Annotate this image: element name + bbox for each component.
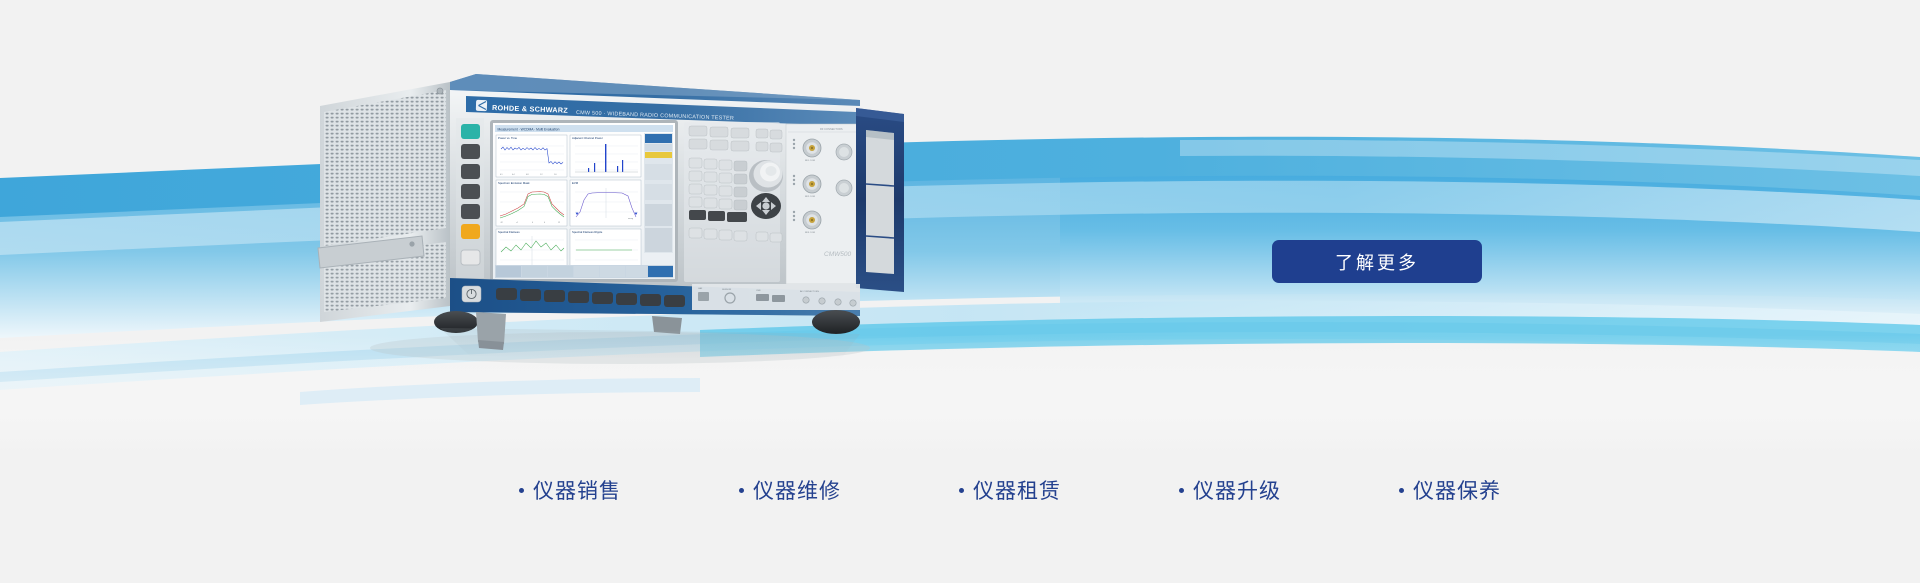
service-link-label: 仪器租赁 <box>973 475 1061 505</box>
io-port-strip[interactable]: LAN SENSOR USB AF CONNECTORS <box>692 284 860 310</box>
rf-port-label-3: RF3 COM <box>805 232 815 234</box>
key-backspace[interactable] <box>689 210 706 220</box>
svg-text:0.8: 0.8 <box>526 174 529 176</box>
key-spare-4[interactable] <box>734 231 747 241</box>
key-reset[interactable] <box>770 130 782 139</box>
service-link-instrument-sales[interactable]: 仪器销售 <box>519 475 621 505</box>
key-signaling[interactable] <box>731 128 749 138</box>
key-print[interactable] <box>461 204 480 219</box>
io-label-af: AF CONNECTORS <box>800 290 819 293</box>
key-spare-6[interactable] <box>770 233 782 242</box>
key-sys[interactable] <box>461 250 480 265</box>
key-spare-5[interactable] <box>756 232 768 241</box>
key-aux-2[interactable] <box>770 143 782 152</box>
svg-text:-12: -12 <box>500 222 503 224</box>
service-link-label: 仪器保养 <box>1413 475 1501 505</box>
bullet-icon <box>959 488 964 493</box>
svg-text:Power vs. Time: Power vs. Time <box>498 136 518 140</box>
svg-text:-4: -4 <box>516 222 518 224</box>
key-unit-4[interactable] <box>734 200 747 210</box>
service-link-instrument-repair[interactable]: 仪器维修 <box>739 475 841 505</box>
rf-port-label-2: RF2 COM <box>805 196 815 198</box>
softkey-1[interactable] <box>496 288 517 300</box>
key-preset[interactable] <box>461 124 480 139</box>
menu-settings[interactable] <box>645 164 672 180</box>
svg-text:4: 4 <box>544 222 545 224</box>
svg-text:Spectrum Emission Mask: Spectrum Emission Mask <box>498 181 530 185</box>
menu-meas[interactable] <box>645 144 672 151</box>
softkey-7[interactable] <box>640 294 661 306</box>
display-menu-magnification[interactable] <box>496 266 521 277</box>
menu-display[interactable] <box>645 228 672 252</box>
key-setup[interactable] <box>461 144 480 159</box>
instrument-display[interactable]: Measurement · WCDMA · Multi Evaluation P… <box>490 120 678 282</box>
left-hardkey-column[interactable] <box>456 118 484 278</box>
service-link-label: 仪器维修 <box>753 475 841 505</box>
service-link-instrument-upgrade[interactable]: 仪器升级 <box>1179 475 1281 505</box>
display-menu-4[interactable] <box>574 266 599 277</box>
svg-text:EVM: EVM <box>572 181 579 185</box>
bullet-icon <box>739 488 744 493</box>
io-label-lan: LAN <box>698 287 703 290</box>
learn-more-button[interactable]: 了解更多 <box>1272 240 1482 283</box>
keypad-area[interactable] <box>684 122 783 282</box>
service-link-list: 仪器销售 仪器维修 仪器租赁 仪器升级 仪器保养 <box>0 468 1920 512</box>
key-9[interactable] <box>719 160 732 170</box>
key-measure[interactable] <box>689 126 707 136</box>
carrying-handle <box>856 108 904 292</box>
key-signal-gen[interactable] <box>710 127 728 137</box>
display-menu-6[interactable] <box>626 266 647 277</box>
key-minus[interactable] <box>719 199 732 209</box>
key-2[interactable] <box>704 185 717 195</box>
io-label-usb: USB <box>756 290 761 292</box>
chart-adjacent-channel-power: Adjacent Channel Power <box>570 135 641 177</box>
key-routing[interactable] <box>710 140 728 150</box>
key-setup-2[interactable] <box>461 184 480 199</box>
svg-text:on-reg: on-reg <box>628 217 633 220</box>
key-unit-2[interactable] <box>734 174 747 184</box>
key-6[interactable] <box>719 173 732 183</box>
display-menu-meas-condition[interactable] <box>522 266 547 277</box>
key-1[interactable] <box>689 184 702 194</box>
softkey-8[interactable] <box>664 295 685 307</box>
display-menu-5[interactable] <box>600 266 625 277</box>
service-link-label: 仪器升级 <box>1193 475 1281 505</box>
key-shift[interactable] <box>708 211 725 221</box>
instrument-reflection <box>440 328 860 360</box>
service-link-instrument-rental[interactable]: 仪器租赁 <box>959 475 1061 505</box>
chart-evm: EVM on-reg <box>570 180 641 226</box>
key-7[interactable] <box>689 158 702 168</box>
rotary-knob[interactable] <box>749 160 783 192</box>
key-decimal[interactable] <box>704 198 717 208</box>
svg-text:0.1: 0.1 <box>500 174 503 176</box>
key-5[interactable] <box>704 172 717 182</box>
rf-panel-title: RF CONNECTORS <box>820 127 843 131</box>
rf-connector-panel[interactable]: RF CONNECTORS RF1 COM RF2 COM <box>786 124 860 284</box>
navigation-pad[interactable] <box>751 193 781 219</box>
display-menu-switch-reset[interactable] <box>548 266 573 277</box>
rf-port-label-1: RF1 COM <box>805 160 815 162</box>
key-8[interactable] <box>704 159 717 169</box>
chart-power-vs-time: Power vs. Time 0.10.4 0.81.21.6 <box>496 135 567 177</box>
softkey-4[interactable] <box>568 291 589 303</box>
menu-blank-1[interactable] <box>645 204 672 226</box>
svg-text:1.6: 1.6 <box>554 174 557 176</box>
key-spare-2[interactable] <box>704 229 717 239</box>
softkey-6[interactable] <box>616 293 637 305</box>
menu-highlight[interactable] <box>645 152 672 158</box>
display-title: Measurement · WCDMA · Multi Evaluation <box>498 127 560 131</box>
hero-banner: ROHDE & SCHWARZ CMW 500 · WIDEBAND RADIO… <box>0 0 1920 583</box>
instrument-left-vent-panel <box>318 82 450 322</box>
bullet-icon <box>1399 488 1404 493</box>
svg-text:0: 0 <box>532 222 533 224</box>
nav-center-icon[interactable] <box>762 202 769 209</box>
svg-text:Adjacent Channel Power: Adjacent Channel Power <box>572 136 603 140</box>
usb-port-2[interactable] <box>772 295 785 302</box>
brand-logo <box>476 100 487 111</box>
key-trigger[interactable] <box>731 141 749 151</box>
corner-model-badge: CMW500 <box>824 251 851 258</box>
key-4[interactable] <box>689 171 702 181</box>
softkey-2[interactable] <box>520 289 541 301</box>
menu-multi-eval[interactable] <box>645 134 672 143</box>
service-link-instrument-maintenance[interactable]: 仪器保养 <box>1399 475 1501 505</box>
key-save-rcl[interactable] <box>461 164 480 179</box>
display-menu-config[interactable] <box>648 266 673 277</box>
svg-text:Spectral Flatness: Spectral Flatness <box>498 230 520 234</box>
usb-port-1[interactable] <box>756 294 769 301</box>
key-data-appl[interactable] <box>689 139 707 149</box>
key-on-off[interactable] <box>756 129 768 138</box>
key-enter[interactable] <box>727 212 747 222</box>
key-spare-1[interactable] <box>689 228 702 238</box>
io-label-sensor: SENSOR <box>722 289 732 291</box>
bullet-icon <box>1179 488 1184 493</box>
key-0[interactable] <box>689 197 702 207</box>
key-spare-3[interactable] <box>719 230 732 240</box>
display-bottom-menu[interactable] <box>495 265 673 278</box>
service-link-label: 仪器销售 <box>533 475 621 505</box>
menu-trigger[interactable] <box>645 184 672 200</box>
key-aux-1[interactable] <box>756 142 768 151</box>
chart-spectrum-emission-mask: Spectrum Emission Mask -12-4 0412 <box>496 180 567 226</box>
svg-text:1.2: 1.2 <box>540 174 543 176</box>
power-button[interactable] <box>462 286 481 302</box>
svg-text:0.4: 0.4 <box>512 174 515 176</box>
key-3[interactable] <box>719 186 732 196</box>
svg-text:Spectral Flatness Ripple: Spectral Flatness Ripple <box>572 230 603 234</box>
instrument-photo: ROHDE & SCHWARZ CMW 500 · WIDEBAND RADIO… <box>300 60 940 370</box>
key-unit-1[interactable] <box>734 161 747 171</box>
softkey-5[interactable] <box>592 292 613 304</box>
bullet-icon <box>519 488 524 493</box>
key-unit-3[interactable] <box>734 187 747 197</box>
lan-port[interactable] <box>698 292 709 301</box>
svg-text:12: 12 <box>558 222 560 224</box>
softkey-3[interactable] <box>544 290 565 302</box>
key-help[interactable] <box>461 224 480 239</box>
